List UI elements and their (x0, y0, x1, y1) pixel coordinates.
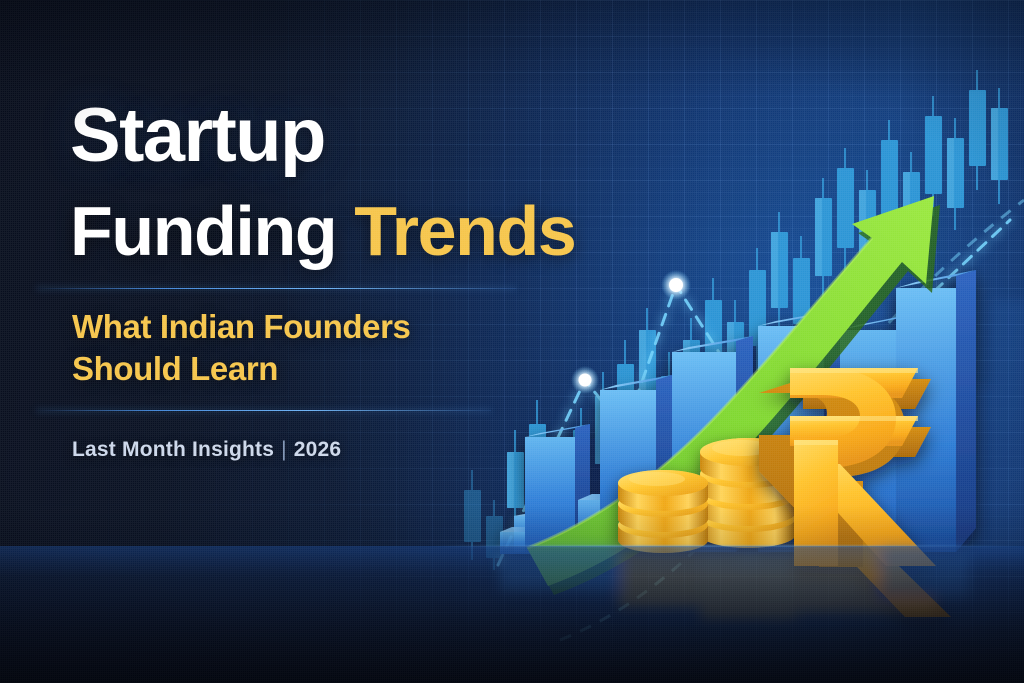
meta-label: Last Month Insights (72, 438, 274, 461)
meta-caption: Last Month Insights|2026 (72, 438, 341, 462)
headline-block: Startup Funding Trends What Indian Found… (0, 0, 560, 683)
subtitle-line-1: What Indian Founders (72, 308, 410, 345)
divider-top (36, 288, 516, 289)
subtitle-line-2: Should Learn (72, 350, 278, 387)
subtitle: What Indian Founders Should Learn (72, 306, 410, 389)
divider-bottom (36, 410, 491, 411)
page-title-funding: Funding (70, 192, 354, 270)
page-title-line-2: Funding Trends (70, 196, 575, 266)
page-title-line-1: Startup (70, 98, 325, 174)
poster-canvas: Startup Funding Trends What Indian Found… (0, 0, 1024, 683)
meta-year: 2026 (294, 438, 342, 461)
meta-separator: | (281, 438, 287, 461)
page-title-trends: Trends (354, 192, 575, 270)
bar-7 (896, 270, 976, 552)
coin-stack-left (618, 470, 708, 553)
